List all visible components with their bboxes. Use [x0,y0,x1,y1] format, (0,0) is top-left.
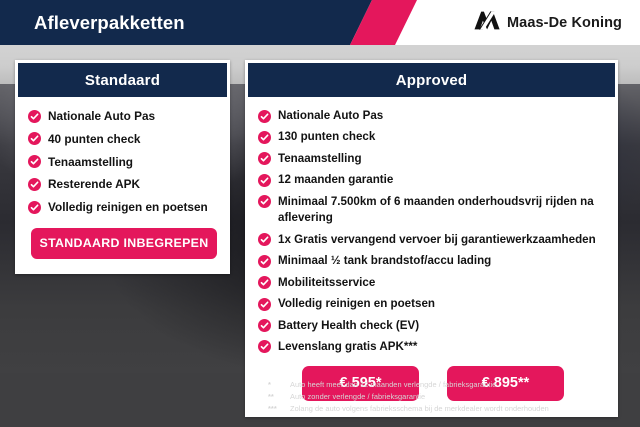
footnote-item: ** Auto zonder verlengde / fabrieksgaran… [268,391,618,403]
check-circle-icon [258,233,271,246]
check-circle-icon [258,340,271,353]
check-circle-icon [258,195,271,208]
footnote-text: Auto zonder verlengde / fabrieksgarantie [290,391,618,403]
list-item: Battery Health check (EV) [258,318,608,334]
list-item: 12 maanden garantie [258,172,608,188]
list-item-label: Tenaamstelling [48,154,133,171]
footnote-list: * Auto heeft meer dan 12 maanden verleng… [268,379,618,415]
check-circle-icon [28,201,41,214]
check-circle-icon [258,152,271,165]
list-item-label: 130 punten check [278,129,375,145]
package-header-standaard: Standaard [18,63,227,97]
list-item-label: Minimaal ½ tank brandstof/accu lading [278,253,491,269]
check-circle-icon [28,155,41,168]
check-circle-icon [258,255,271,268]
list-item: Nationale Auto Pas [28,108,220,125]
check-circle-icon [28,178,41,191]
package-feature-list-approved: Nationale Auto Pas 130 punten check Tena… [245,97,618,417]
check-circle-icon [258,110,271,123]
header-bar: Afleverpakketten Maas-De Koning [0,0,640,45]
list-item: 40 punten check [28,131,220,148]
slide-canvas: Afleverpakketten Maas-De Koning Standaar… [0,0,640,427]
list-item: Resterende APK [28,176,220,193]
check-circle-icon [258,131,271,144]
footnote-marker: * [268,379,290,391]
list-item: Mobiliteitsservice [258,275,608,291]
list-item-label: Volledig reinigen en poetsen [278,296,435,312]
footnote-text: Auto heeft meer dan 12 maanden verlengde… [290,379,618,391]
list-item: Volledig reinigen en poetsen [258,296,608,312]
list-item-label: 12 maanden garantie [278,172,393,188]
footnote-item: *** Zolang de auto volgens fabrieksschem… [268,403,618,415]
list-item: Minimaal ½ tank brandstof/accu lading [258,253,608,269]
footnote-marker: *** [268,403,290,415]
standaard-inbegrepen-button[interactable]: STANDAARD INBEGREPEN [31,228,217,259]
check-circle-icon [28,132,41,145]
package-header-approved: Approved [248,63,615,97]
list-item-label: 1x Gratis vervangend vervoer bij garanti… [278,232,596,248]
list-item: Tenaamstelling [28,154,220,171]
footnote-marker: ** [268,391,290,403]
list-item-label: Levenslang gratis APK*** [278,339,417,355]
list-item-label: Volledig reinigen en poetsen [48,199,208,216]
brand-name: Maas-De Koning [507,15,622,31]
list-item: Tenaamstelling [258,151,608,167]
footnote-text: Zolang de auto volgens fabrieksschema bi… [290,403,618,415]
list-item-label: Mobiliteitsservice [278,275,375,291]
list-item-label: Battery Health check (EV) [278,318,419,334]
package-card-approved: Approved Nationale Auto Pas 130 punten c… [245,60,618,417]
list-item: Volledig reinigen en poetsen [28,199,220,216]
check-circle-icon [258,174,271,187]
list-item-label: Tenaamstelling [278,151,362,167]
list-item: Levenslang gratis APK*** [258,339,608,355]
maas-de-koning-m-logo-icon [474,11,500,35]
footnote-item: * Auto heeft meer dan 12 maanden verleng… [268,379,618,391]
list-item-label: Minimaal 7.500km of 6 maanden onderhouds… [278,194,608,227]
check-circle-icon [258,298,271,311]
check-circle-icon [258,319,271,332]
list-item: 130 punten check [258,129,608,145]
package-title: Approved [396,72,468,89]
check-circle-icon [258,276,271,289]
list-item-label: Resterende APK [48,176,140,193]
check-circle-icon [28,110,41,123]
list-item: Minimaal 7.500km of 6 maanden onderhouds… [258,194,608,227]
package-feature-list-standaard: Nationale Auto Pas 40 punten check Tenaa… [15,97,230,274]
list-item-label: 40 punten check [48,131,140,148]
package-title: Standaard [85,72,160,89]
package-card-standaard: Standaard Nationale Auto Pas 40 punten c… [15,60,230,274]
brand-lockup: Maas-De Koning [474,0,622,45]
list-item-label: Nationale Auto Pas [278,108,383,124]
list-item-label: Nationale Auto Pas [48,108,155,125]
list-item: Nationale Auto Pas [258,108,608,124]
list-item: 1x Gratis vervangend vervoer bij garanti… [258,232,608,248]
page-title: Afleverpakketten [34,0,185,45]
